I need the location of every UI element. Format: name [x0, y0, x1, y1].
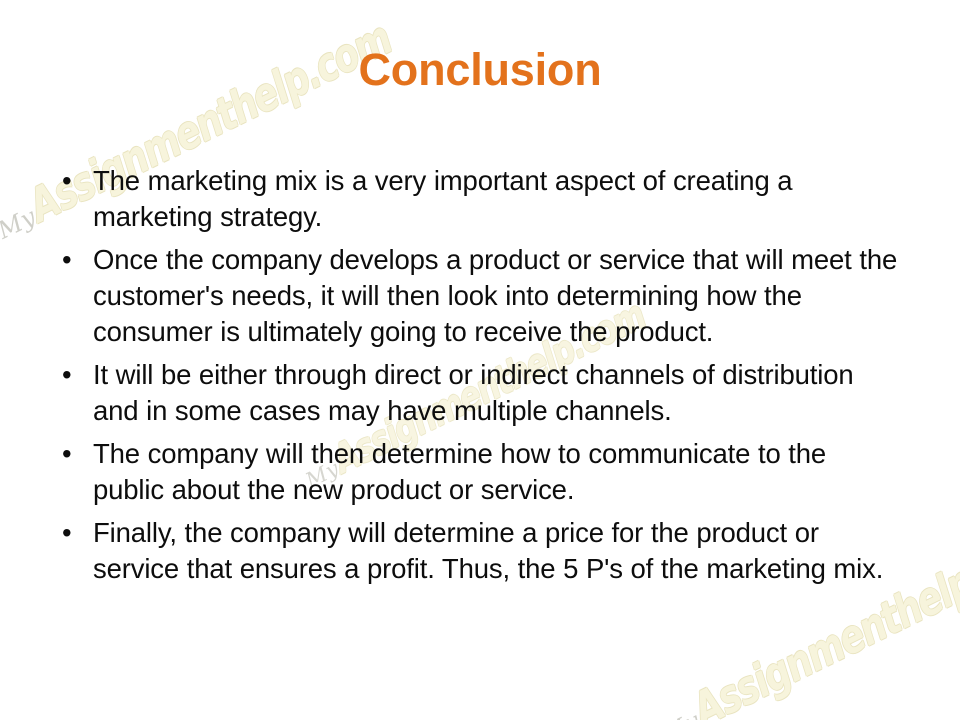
list-item-text: The company will then determine how to c… [93, 436, 900, 508]
slide-canvas: MyAssignmenthelp.com MyAssignmenthelp.co… [0, 0, 960, 720]
watermark-prefix-text: My [0, 202, 41, 245]
list-item-text: Once the company develops a product or s… [93, 242, 900, 350]
list-item: • The marketing mix is a very important … [55, 163, 900, 235]
slide-title: Conclusion [0, 46, 960, 93]
watermark-prefix-text: My [657, 706, 705, 720]
list-item: • The company will then determine how to… [55, 436, 900, 508]
bullet-list: • The marketing mix is a very important … [55, 163, 900, 587]
bullet-marker-icon: • [62, 515, 84, 551]
bullet-marker-icon: • [62, 242, 84, 278]
list-item: • It will be either through direct or in… [55, 357, 900, 429]
list-item-text: Finally, the company will determine a pr… [93, 515, 900, 587]
bullet-marker-icon: • [62, 357, 84, 393]
bullet-marker-icon: • [62, 436, 84, 472]
list-item: • Finally, the company will determine a … [55, 515, 900, 587]
list-item-text: The marketing mix is a very important as… [93, 163, 900, 235]
list-item-text: It will be either through direct or indi… [93, 357, 900, 429]
list-item: • Once the company develops a product or… [55, 242, 900, 350]
bullet-marker-icon: • [62, 163, 84, 199]
